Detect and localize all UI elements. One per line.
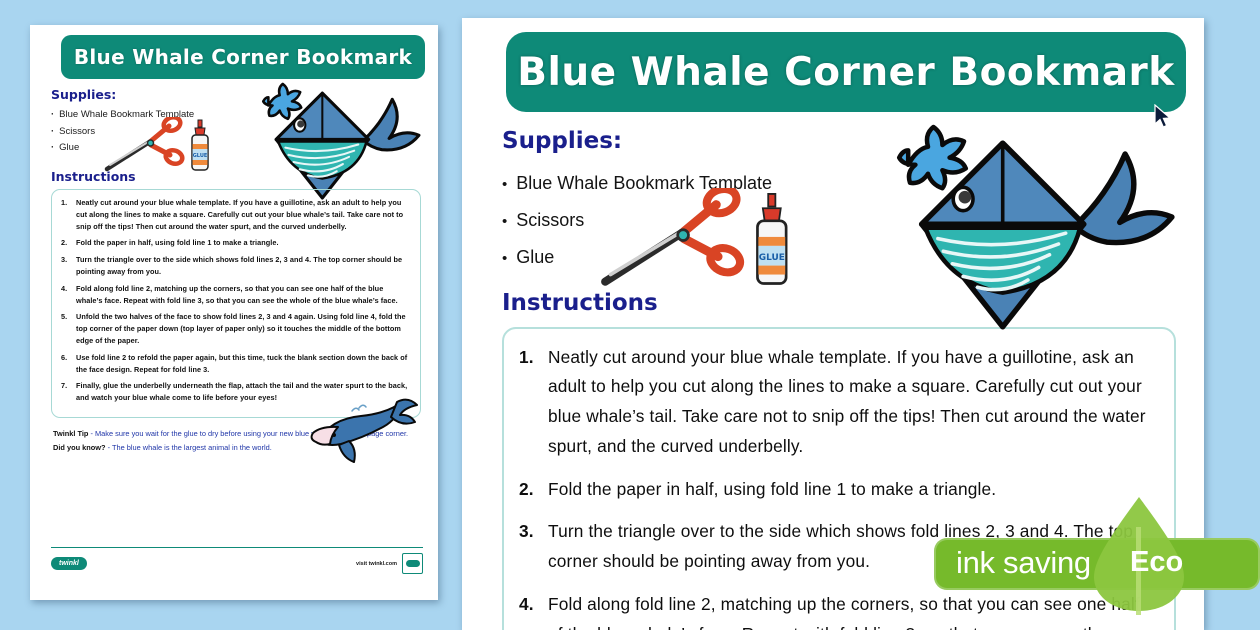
scissors-icon [107, 117, 184, 169]
list-item: Fold the paper in half, using fold line … [516, 475, 1158, 505]
list-item: Turn the triangle over to the side which… [59, 254, 411, 278]
tip-label: Twinkl Tip [53, 429, 88, 438]
swimming-whale-illustration [301, 398, 419, 468]
svg-text:GLUE: GLUE [759, 253, 785, 263]
thumbnail-footer: twinkl visit twinkl.com [51, 547, 423, 574]
list-item: Neatly cut around your blue whale templa… [516, 343, 1158, 462]
glue-bottle-icon: GLUE [192, 120, 208, 170]
eco-badge-text: ink saving [956, 545, 1091, 581]
mouse-cursor-icon [1154, 104, 1172, 130]
svg-text:GLUE: GLUE [193, 153, 208, 159]
list-item: Fold along fold line 2, matching up the … [516, 590, 1158, 630]
visit-url-text: visit twinkl.com [356, 561, 397, 567]
eco-badge-word: Eco [1130, 546, 1183, 579]
document-thumbnail-page[interactable]: Blue Whale Corner Bookmark [30, 25, 438, 600]
glue-bottle-icon: GLUE [757, 194, 786, 284]
twinkl-badge-icon [402, 553, 423, 574]
scissors-icon [605, 188, 743, 282]
thumbnail-title-banner: Blue Whale Corner Bookmark [61, 35, 425, 79]
ink-saving-eco-badge: ink saving Eco [934, 533, 1260, 595]
footer-right-group: visit twinkl.com [356, 553, 423, 574]
list-item: Fold the paper in half, using fold line … [59, 237, 411, 249]
list-item: Use fold line 2 to refold the paper agai… [59, 352, 411, 376]
thumbnail-page-title: Blue Whale Corner Bookmark [74, 45, 412, 69]
supplies-tools-illustration: GLUE [103, 117, 223, 175]
thumbnail-body: Supplies: Blue Whale Bookmark Template S… [43, 79, 425, 454]
did-you-know-label: Did you know? [53, 443, 106, 452]
page-title: Blue Whale Corner Bookmark [517, 50, 1174, 95]
thumbnail-tip-section: Twinkl Tip - Make sure you wait for the … [53, 427, 421, 454]
list-item: Neatly cut around your blue whale templa… [59, 197, 411, 232]
supplies-tools-illustration-large: GLUE [598, 188, 813, 293]
preview-title-banner: Blue Whale Corner Bookmark [506, 32, 1186, 112]
twinkl-logo: twinkl [51, 557, 87, 570]
list-item: Fold along fold line 2, matching up the … [59, 283, 411, 307]
thumbnail-instructions-box: Neatly cut around your blue whale templa… [51, 189, 421, 418]
origami-whale-illustration-large [841, 118, 1186, 343]
thumbnail-instructions-list: Neatly cut around your blue whale templa… [59, 197, 411, 404]
list-item: Unfold the two halves of the face to sho… [59, 311, 411, 346]
did-you-know-text: - The blue whale is the largest animal i… [106, 443, 272, 452]
